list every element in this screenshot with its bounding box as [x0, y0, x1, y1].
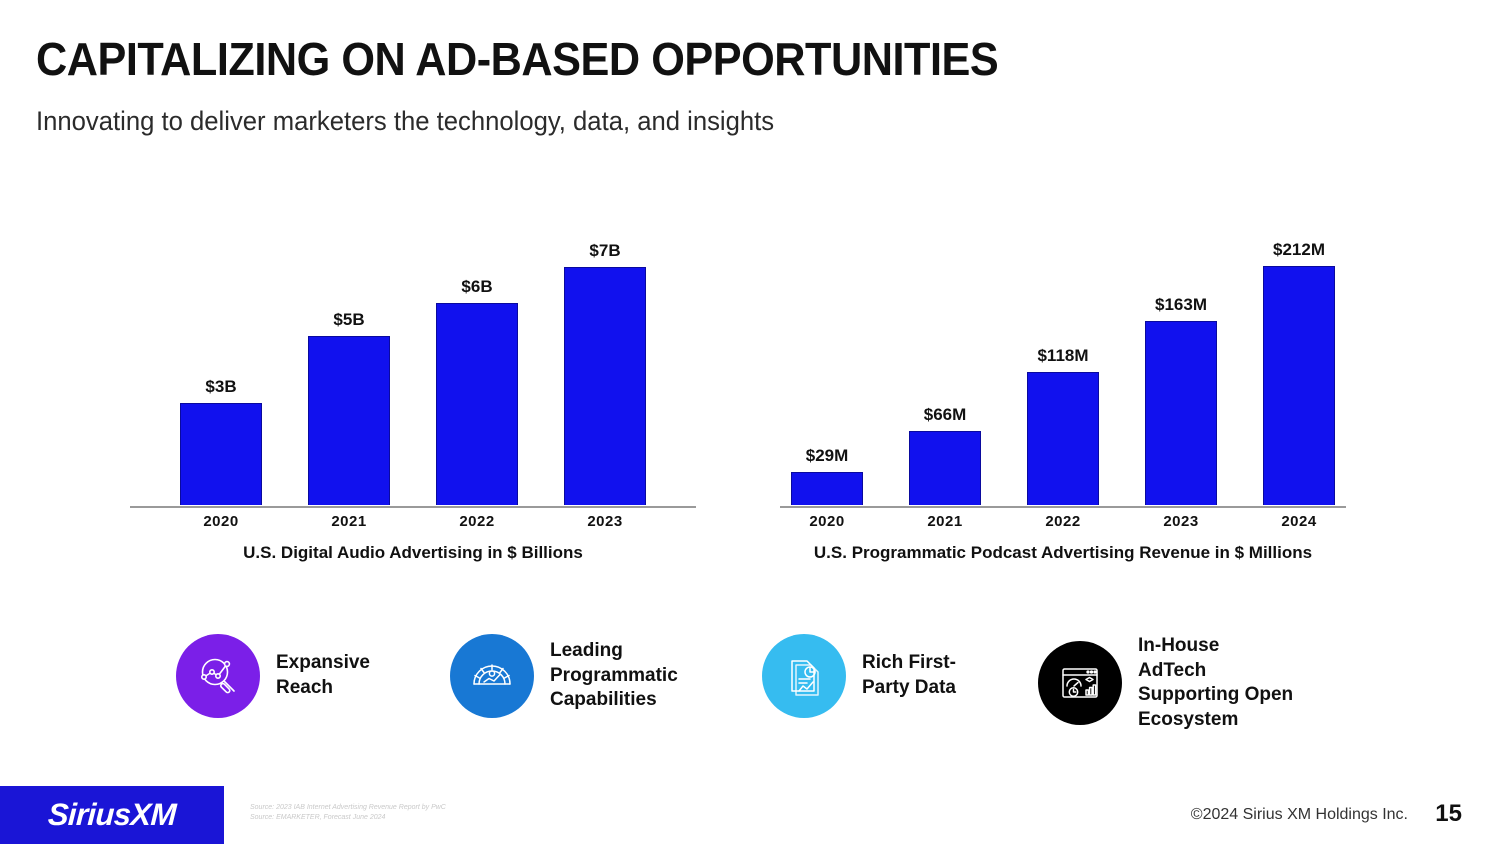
chart-caption: U.S. Digital Audio Advertising in $ Bill…	[130, 543, 696, 563]
bar-rect	[436, 303, 518, 505]
x-tick-2020: 2020	[791, 513, 863, 530]
bar-value-label: $66M	[924, 405, 967, 425]
feature-in-house-adtech: In-House AdTech Supporting Open Ecosyste…	[1038, 634, 1293, 733]
magnifier-network-icon	[176, 634, 260, 718]
chart-plot-area: $29M$66M$118M$163M$212M	[780, 225, 1346, 507]
logo-text: SiriusXM	[47, 797, 177, 833]
feature-rich-first-party-data: Rich First- Party Data	[762, 634, 956, 718]
bar-2021	[909, 431, 981, 505]
bar-2020	[180, 403, 262, 505]
bar-value-label: $212M	[1273, 240, 1325, 260]
bar-2024	[1263, 266, 1335, 505]
bar-2022	[436, 303, 518, 505]
bar-2023	[1145, 321, 1217, 505]
bar-2022	[1027, 372, 1099, 505]
feature-label: Expansive Reach	[276, 651, 370, 700]
bar-2020	[791, 472, 863, 505]
bar-2023	[564, 267, 646, 505]
feature-label: Rich First- Party Data	[862, 651, 956, 700]
chart-plot-area: $3B$5B$6B$7B	[130, 225, 696, 507]
bar-rect	[909, 431, 981, 505]
bar-rect	[564, 267, 646, 505]
dashboard-browser-icon	[1038, 641, 1122, 725]
bar-rect	[1145, 321, 1217, 505]
bar-rect	[1263, 266, 1335, 505]
x-tick-2021: 2021	[308, 513, 390, 530]
x-tick-2023: 2023	[564, 513, 646, 530]
chart-x-axis-ticks: 2020202120222023	[130, 513, 696, 537]
page-number: 15	[1435, 800, 1462, 828]
page-subtitle: Innovating to deliver marketers the tech…	[36, 106, 774, 137]
x-tick-2022: 2022	[1027, 513, 1099, 530]
source-notes: Source: 2023 IAB Internet Advertising Re…	[250, 803, 446, 823]
bar-rect	[308, 336, 390, 505]
feature-label: In-House AdTech Supporting Open Ecosyste…	[1138, 634, 1293, 733]
bar-2021	[308, 336, 390, 505]
bar-value-label: $7B	[589, 241, 620, 261]
x-tick-2021: 2021	[909, 513, 981, 530]
bar-value-label: $118M	[1037, 346, 1088, 366]
chart-us-programmatic-podcast-revenue: $29M$66M$118M$163M$212M 2020202120222023…	[780, 225, 1346, 565]
copyright-notice: ©2024 Sirius XM Holdings Inc.	[1191, 806, 1408, 824]
bar-rect	[1027, 372, 1099, 505]
chart-us-digital-audio-advertising: $3B$5B$6B$7B 2020202120222023 U.S. Digit…	[130, 225, 696, 565]
bar-rect	[791, 472, 863, 505]
page-title: CAPITALIZING ON AD-BASED OPPORTUNITIES	[36, 32, 998, 86]
bar-value-label: $163M	[1155, 295, 1207, 315]
gauge-dial-icon	[450, 634, 534, 718]
source-line: Source: EMARKETER, Forecast June 2024	[250, 813, 446, 823]
feature-expansive-reach: Expansive Reach	[176, 634, 370, 718]
bar-value-label: $29M	[806, 446, 849, 466]
chart-x-axis-ticks: 20202021202220232024	[780, 513, 1346, 537]
bar-value-label: $6B	[461, 277, 492, 297]
feature-leading-programmatic-capabilities: Leading Programmatic Capabilities	[450, 634, 678, 718]
bar-value-label: $5B	[333, 310, 364, 330]
x-tick-2020: 2020	[180, 513, 262, 530]
report-documents-icon	[762, 634, 846, 718]
x-tick-2023: 2023	[1145, 513, 1217, 530]
x-tick-2022: 2022	[436, 513, 518, 530]
bar-rect	[180, 403, 262, 505]
feature-label: Leading Programmatic Capabilities	[550, 639, 678, 713]
chart-baseline	[130, 506, 696, 508]
bar-value-label: $3B	[205, 377, 236, 397]
source-line: Source: 2023 IAB Internet Advertising Re…	[250, 803, 446, 813]
chart-baseline	[780, 506, 1346, 508]
x-tick-2024: 2024	[1263, 513, 1335, 530]
siriusxm-logo: SiriusXM	[0, 786, 224, 844]
chart-caption: U.S. Programmatic Podcast Advertising Re…	[780, 543, 1346, 563]
